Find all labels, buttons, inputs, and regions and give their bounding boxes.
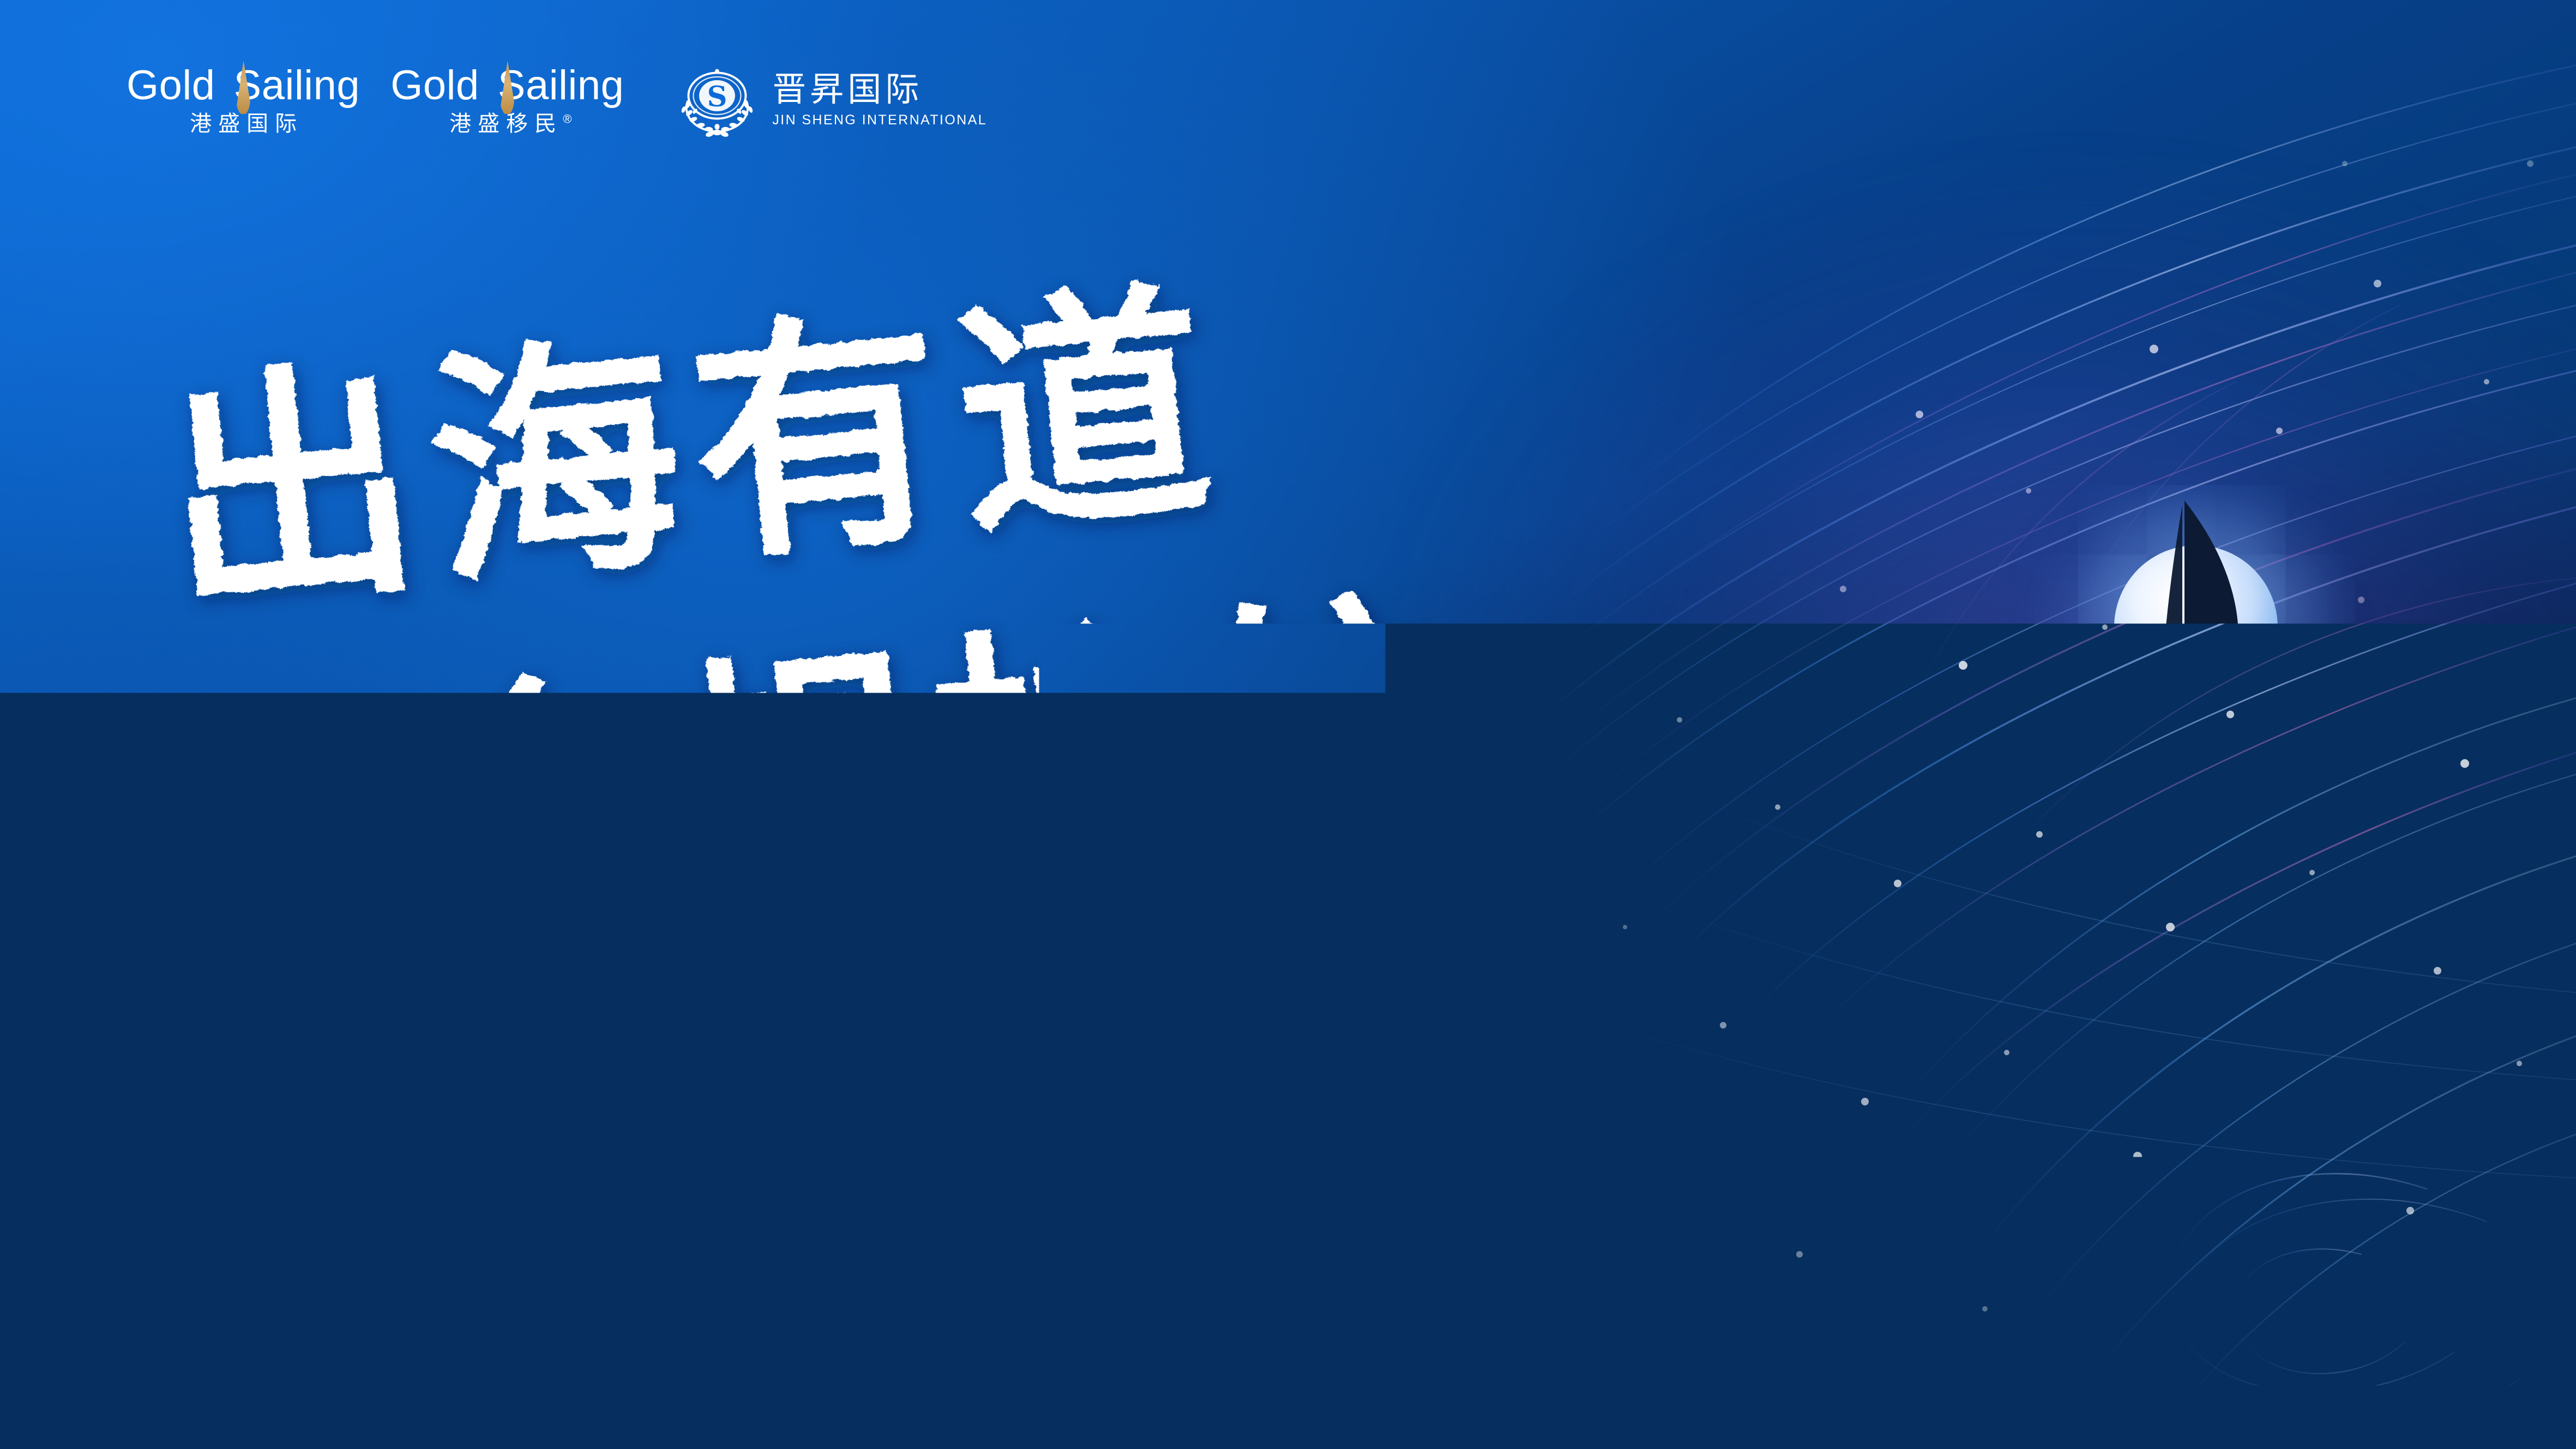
gold-sailing-wordmark: Gold Sailing (127, 65, 360, 106)
sailboat-silhouette-icon (2075, 491, 2358, 774)
wordmark-gold: Gold (390, 65, 479, 106)
svg-text:S: S (707, 81, 727, 113)
logo-bar: Gold Sailing 港盛国际 Gold Sailing 港盛移民® (127, 59, 987, 141)
jin-sheng-text-block: 晋昇国际 JIN SHENG INTERNATIONAL (772, 72, 987, 128)
subtitle-chinese-line: 2021港盛国际百企跨境税筹训战营-上海站 (0, 1001, 2576, 1077)
headline-calligraphy: 出海有道 合规护航 (0, 305, 1745, 982)
wordmark-sailing: Sailing (234, 65, 360, 106)
logo-jin-sheng-international[interactable]: S (676, 59, 987, 141)
subtitle-english-line: 2021 Gangsheng international 100 enterpr… (154, 1096, 2421, 1127)
horizontal-lens-flare-icon (0, 1074, 2576, 1089)
subtitle-block: 2021港盛国际百企跨境税筹训战营-上海站 2021 Gangsheng int… (0, 1001, 2576, 1127)
logo-gold-sailing-international[interactable]: Gold Sailing 港盛国际 (127, 65, 360, 135)
wordmark-sailing: Sailing (498, 65, 624, 106)
logo-chinese-name: 港盛国际 (183, 113, 303, 135)
jin-sheng-english-name: JIN SHENG INTERNATIONAL (772, 113, 987, 128)
gold-sailing-wordmark: Gold Sailing (390, 65, 624, 106)
laurel-wreath-s-emblem-icon: S (676, 59, 758, 141)
subtitle-year: 2021 (650, 1001, 792, 1077)
logo-chinese-text: 港盛移民 (449, 112, 563, 136)
headline-line-2: 合规护航 (392, 564, 1476, 959)
subtitle-chinese-text: 港盛国际百企跨境税筹训战营-上海站 (795, 1000, 1927, 1077)
registered-mark-icon: ® (563, 112, 571, 126)
wordmark-gold: Gold (127, 65, 215, 106)
logo-gold-sailing-immigration[interactable]: Gold Sailing 港盛移民® (390, 65, 624, 135)
logo-chinese-name: 港盛移民® (443, 113, 571, 135)
headline-line-1: 出海有道 (152, 254, 1236, 648)
sailboat-scene (2075, 491, 2358, 774)
banner-canvas: Gold Sailing 港盛国际 Gold Sailing 港盛移民® (0, 0, 2576, 1449)
jin-sheng-chinese-name: 晋昇国际 (772, 72, 987, 108)
